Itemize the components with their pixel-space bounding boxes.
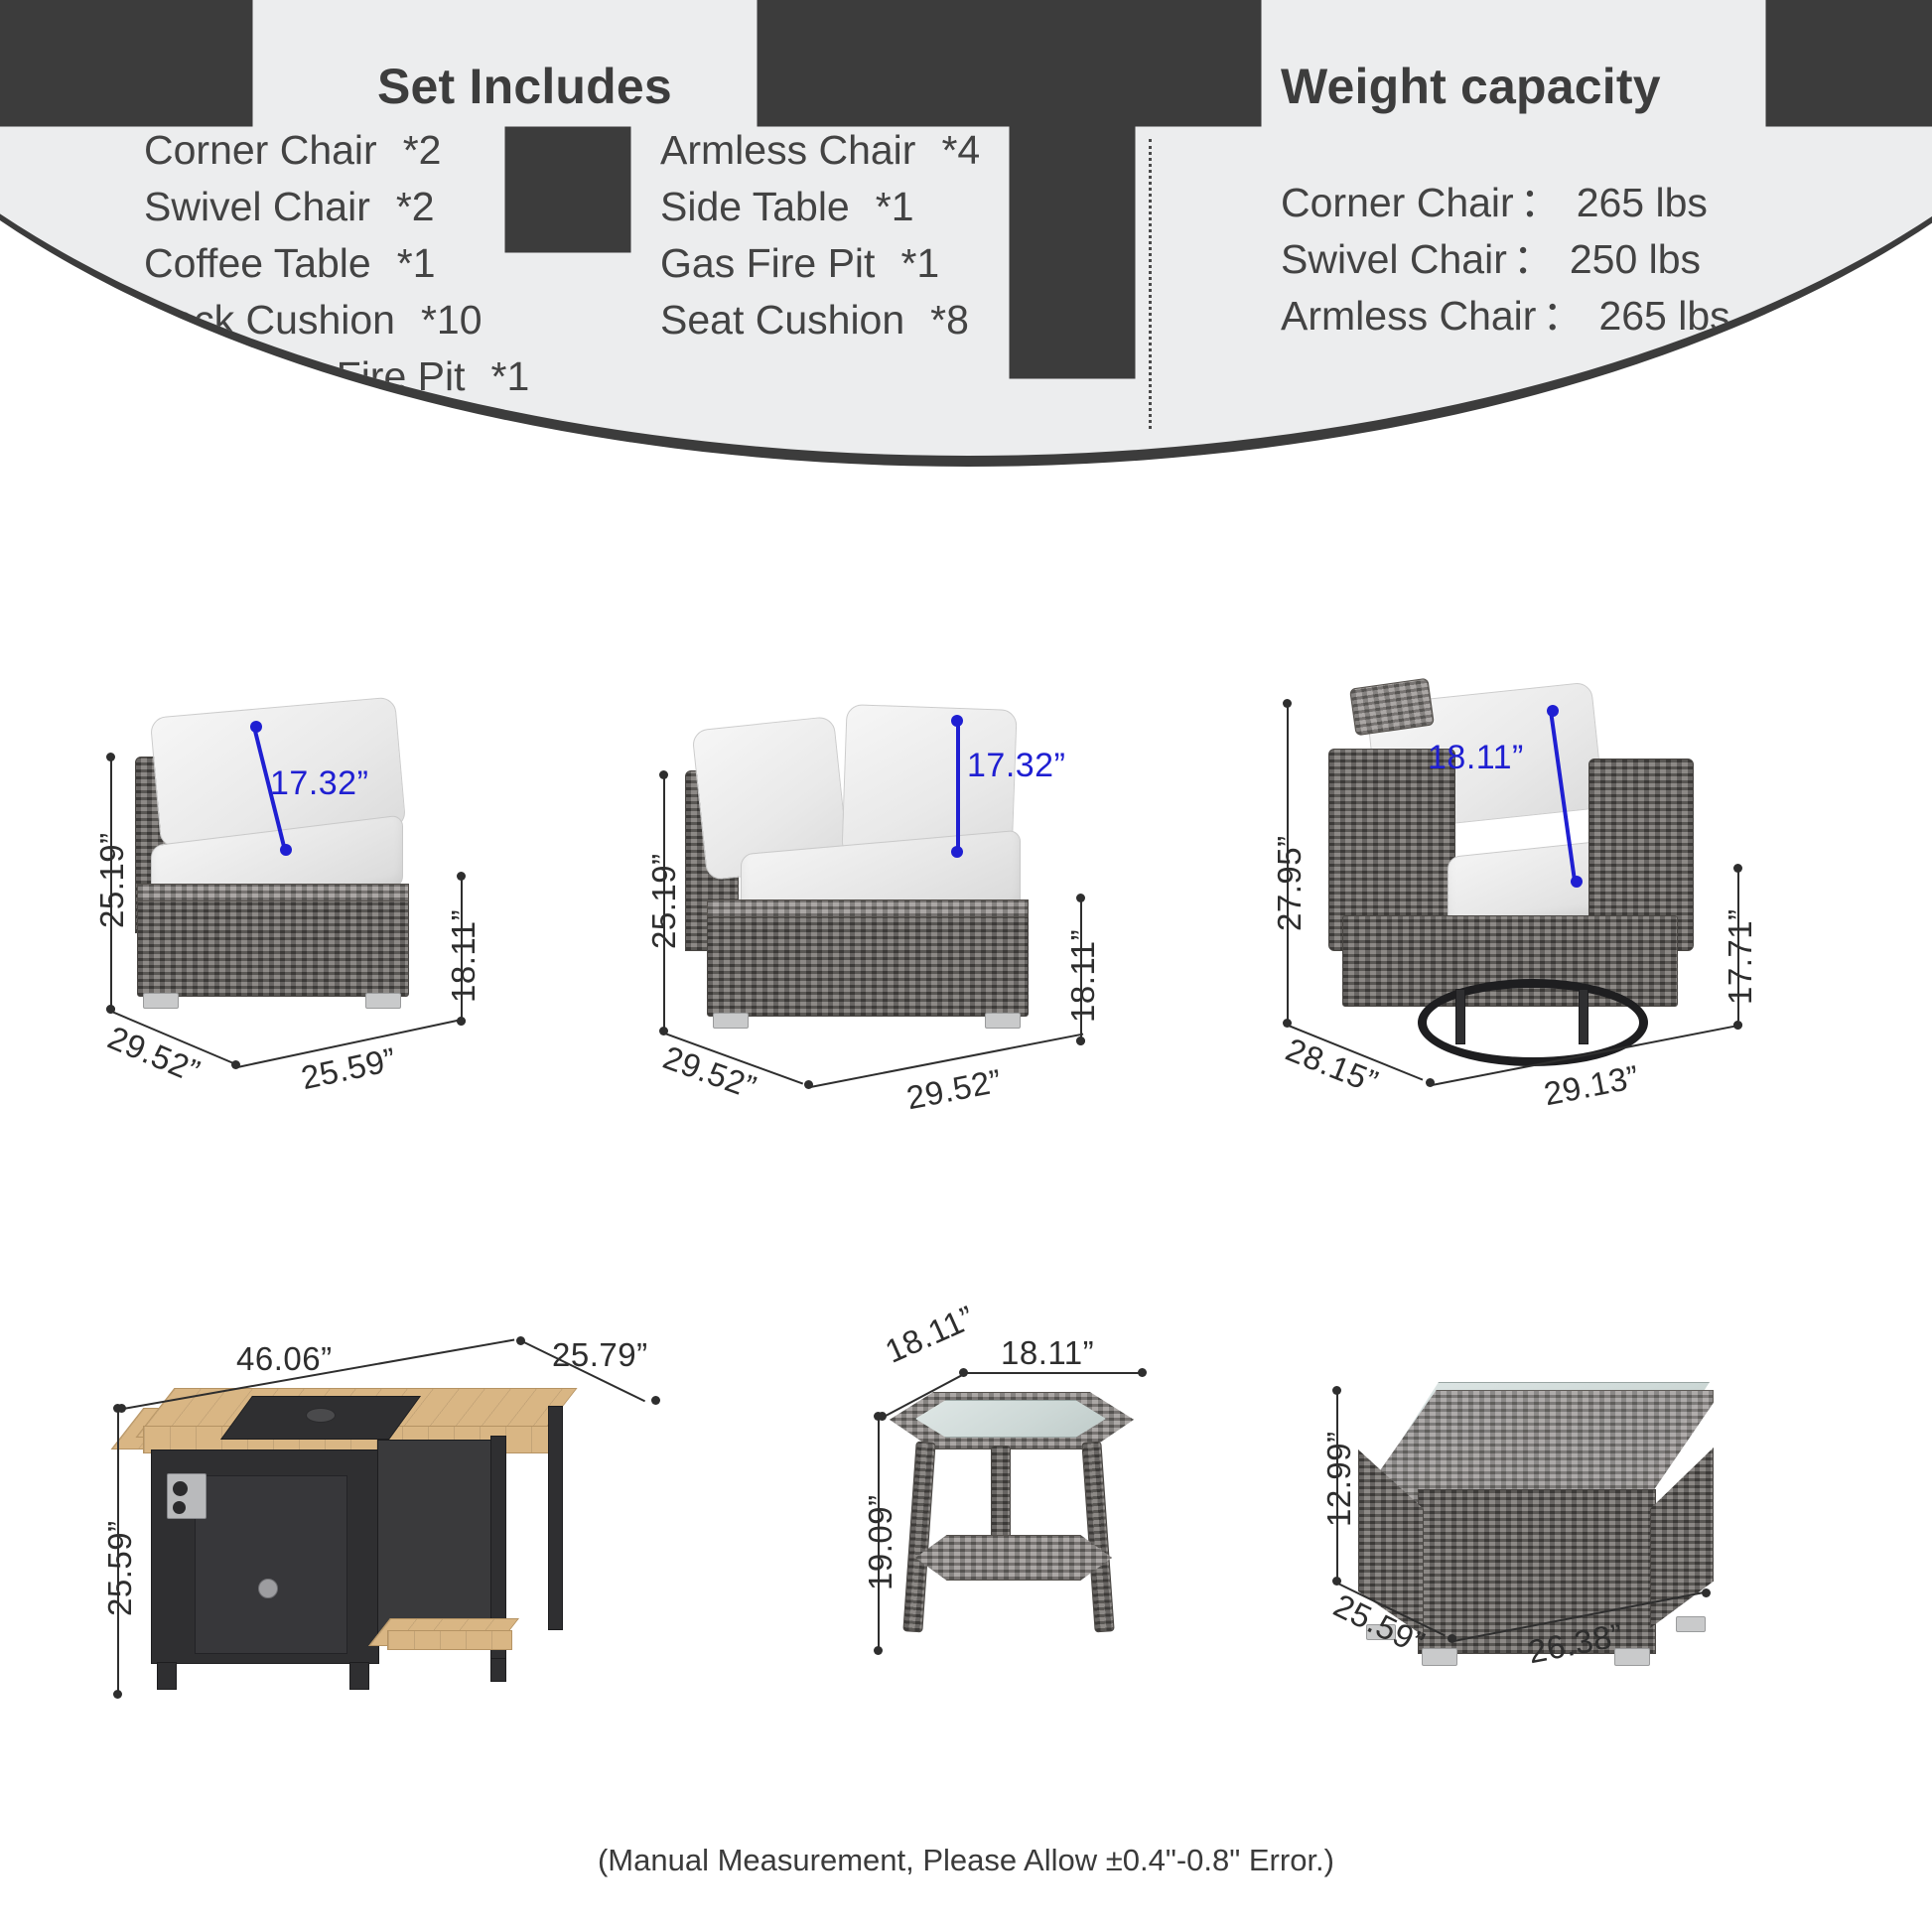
dimension-corner-back-cushion: 17.32” [967,747,1065,785]
item-qty: *4 [941,127,980,174]
measurement-disclaimer: (Manual Measurement, Please Allow ±0.4"-… [0,1843,1932,1878]
list-item: Swivel Chair ： 250 lbs [1281,225,1730,282]
item-qty: *1 [876,184,914,230]
dimension-armless-seat-height: 18.11” [445,909,483,1003]
product-swivel-chair: 18.11” 27.95” 17.71” 28.15” 29.13” [1281,685,1876,1261]
item-label: Back Cushion [144,297,395,344]
set-includes-column-right: Armless Chair *4 Side Table *1 Gas Fire … [660,127,980,353]
product-dimension-grid: 17.32” 25.19” 18.11” 29.52” 25.59” [0,685,1932,1807]
product-coffee-table: 12.99” 25.59” 26.38” [1330,1330,1886,1807]
item-label: Side Table [660,184,850,230]
item-label: Swivel Chair [144,184,370,230]
item-value: 265 lbs [1577,180,1708,226]
dimension-endpoint [1733,1021,1742,1030]
item-label: Armless Chair [1281,293,1536,340]
item-qty: *1 [491,353,530,400]
item-label: Corner Chair [144,127,377,174]
list-item: Corner Chair *2 [144,127,529,184]
list-item: Armless Chair *4 [660,127,980,184]
list-item: Cover For Fire Pit *1 [144,353,529,410]
dimension-corner-seat-height: 18.11” [1064,929,1102,1023]
weight-capacity-list: Corner Chair ： 265 lbs Swivel Chair ： 25… [1281,169,1730,339]
product-corner-chair: 17.32” 25.19” 18.11” 29.52” 29.52” [655,685,1211,1261]
list-item: Gas Fire Pit *1 [660,240,980,297]
dimension-line [965,1372,1144,1374]
item-colon: ： [1520,169,1561,228]
item-qty: *10 [421,297,483,344]
item-label: Seat Cushion [660,297,904,344]
list-item: Corner Chair ： 265 lbs [1281,169,1730,225]
dimension-endpoint [951,846,963,858]
item-qty: *1 [397,240,436,287]
list-item: Seat Cushion *8 [660,297,980,353]
dimension-firepit-height: 25.59” [101,1520,139,1616]
item-label: Cover For Fire Pit [144,353,466,400]
item-colon: ： [1542,282,1583,342]
dimension-endpoint [113,1690,122,1699]
dimension-endpoint [651,1396,660,1405]
dimension-endpoint [457,1017,466,1026]
item-qty: *2 [396,184,435,230]
item-label: Coffee Table [144,240,371,287]
dimension-sidetable-width: 18.11” [1001,1334,1094,1372]
header-dotted-divider [1149,139,1152,429]
dimension-endpoint [1076,1036,1085,1045]
item-value: 265 lbs [1598,293,1729,340]
item-qty: *2 [403,127,442,174]
dimension-swivel-width: 29.13” [1541,1058,1642,1114]
dimension-endpoint [874,1646,883,1655]
set-includes-title: Set Includes [377,58,672,115]
item-colon: ： [1513,225,1554,285]
dimension-endpoint [280,844,292,856]
dimension-armless-height: 25.19” [93,832,131,928]
dimension-corner-height: 25.19” [645,853,683,949]
dimension-swivel-height: 27.95” [1271,835,1309,931]
dimension-swivel-back-cushion: 18.11” [1428,739,1524,777]
item-label: Gas Fire Pit [660,240,875,287]
list-item: Swivel Chair *2 [144,184,529,240]
item-label: Armless Chair [660,127,915,174]
dimension-endpoint [1702,1588,1711,1597]
dimension-coffeetable-height: 12.99” [1320,1431,1358,1527]
item-value: 250 lbs [1570,236,1701,283]
dimension-corner-width: 29.52” [903,1062,1005,1118]
list-item: Coffee Table *1 [144,240,529,297]
item-qty: *1 [900,240,939,287]
item-label: Swivel Chair [1281,236,1507,283]
dimension-firepit-length: 46.06” [236,1340,333,1378]
product-side-table: 18.11” 18.11” 19.09” [874,1330,1271,1807]
dimension-sidetable-height: 19.09” [862,1494,899,1590]
item-label: Corner Chair [1281,180,1514,226]
dimension-sidetable-depth: 18.11” [880,1299,980,1371]
dimension-swivel-seat-height: 17.71” [1722,908,1759,1005]
product-armless-chair: 17.32” 25.19” 18.11” 29.52” 25.59” [99,685,576,1261]
list-item: Side Table *1 [660,184,980,240]
list-item: Back Cushion *10 [144,297,529,353]
dimension-endpoint [1138,1368,1147,1377]
set-includes-column-left: Corner Chair *2 Swivel Chair *2 Coffee T… [144,127,529,410]
weight-capacity-title: Weight capacity [1281,58,1661,115]
item-qty: *8 [930,297,969,344]
dimension-firepit-depth: 25.79” [552,1336,648,1374]
dimension-endpoint [1571,876,1583,888]
dimension-armless-width: 25.59” [298,1040,399,1097]
product-gas-fire-pit: 46.06” 25.79” 25.59” [89,1330,705,1807]
dimension-armless-back-cushion: 17.32” [270,764,368,803]
list-item: Armless Chair ： 265 lbs [1281,282,1730,339]
header-banner: Set Includes Corner Chair *2 Swivel Chai… [0,0,1932,467]
dimension-line [956,721,960,848]
